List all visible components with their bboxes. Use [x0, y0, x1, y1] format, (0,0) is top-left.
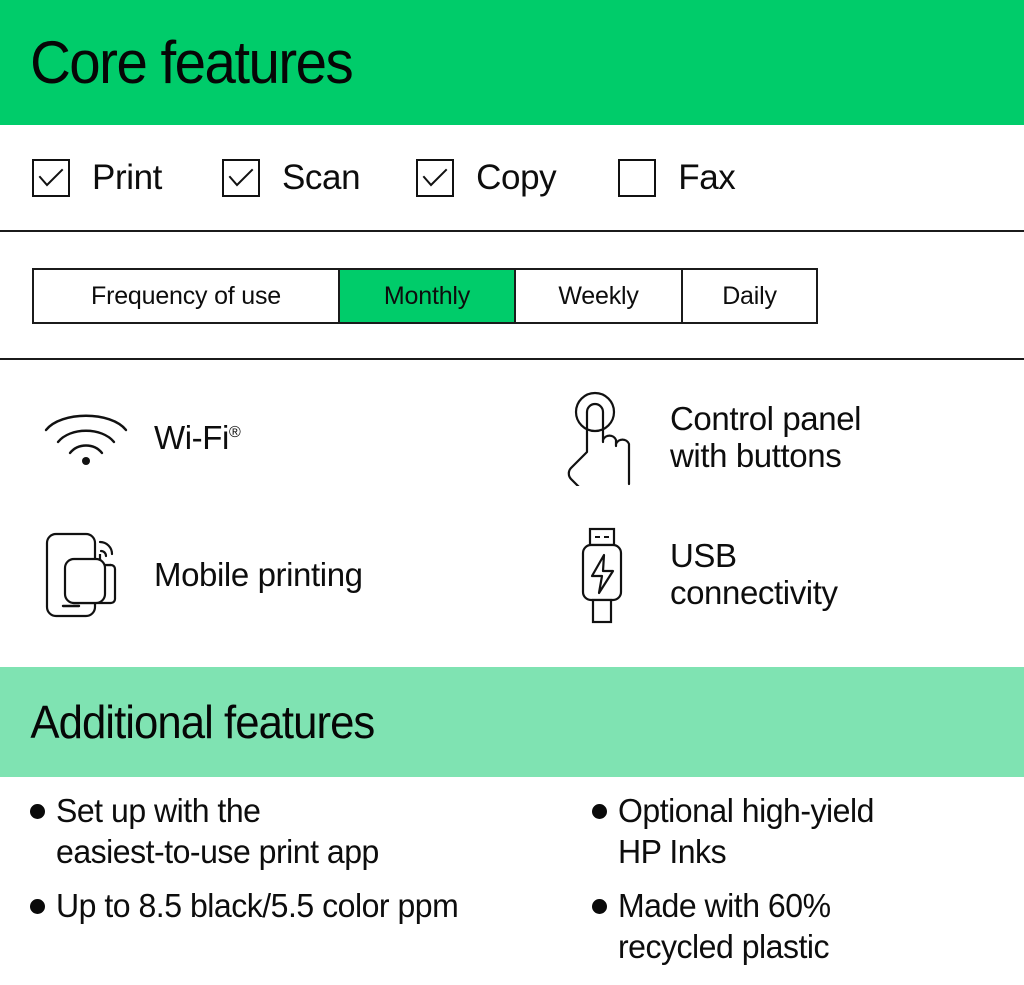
mobile-printing-icon	[40, 525, 132, 625]
capability-scan-label: Scan	[282, 160, 360, 195]
feature-wifi: Wi-Fi®	[40, 388, 241, 488]
core-capabilities-row: Print Scan Copy Fax	[0, 125, 1024, 230]
capability-print[interactable]: Print	[32, 159, 162, 197]
list-item: Optional high-yield HP Inks	[592, 790, 1012, 873]
core-features-title: Core features	[0, 33, 352, 93]
capability-fax-label: Fax	[678, 160, 735, 195]
additional-features-title: Additional features	[0, 699, 374, 745]
checkbox-checked-icon[interactable]	[416, 159, 454, 197]
capability-print-label: Print	[92, 160, 162, 195]
list-item-text: Optional high-yield HP Inks	[618, 790, 874, 873]
capability-copy[interactable]: Copy	[416, 159, 556, 197]
list-item: Up to 8.5 black/5.5 color ppm	[30, 885, 590, 926]
frequency-of-use-table: Frequency of use Monthly Weekly Daily	[32, 268, 818, 324]
feature-mobile-printing: Mobile printing	[40, 525, 363, 625]
additional-features-banner: Additional features	[0, 667, 1024, 777]
list-item: Made with 60% recycled plastic	[592, 885, 1012, 968]
list-item-text: Set up with the easiest-to-use print app	[56, 790, 379, 873]
capability-scan[interactable]: Scan	[222, 159, 360, 197]
bullet-dot-icon	[592, 899, 607, 914]
checkbox-unchecked-icon[interactable]	[618, 159, 656, 197]
divider-above-frequency	[0, 230, 1024, 232]
feature-mobile-printing-label: Mobile printing	[154, 557, 363, 594]
additional-features-lists: Set up with the easiest-to-use print app…	[0, 790, 1024, 985]
list-item: Set up with the easiest-to-use print app	[30, 790, 590, 873]
connectivity-feature-grid: Wi-Fi® Control panel with buttons	[0, 380, 1024, 660]
bullet-dot-icon	[30, 804, 45, 819]
feature-control-panel: Control panel with buttons	[556, 388, 861, 488]
bullet-dot-icon	[30, 899, 45, 914]
core-features-banner: Core features	[0, 0, 1024, 125]
frequency-option-daily[interactable]: Daily	[681, 270, 816, 322]
capability-fax[interactable]: Fax	[618, 159, 735, 197]
list-item-text: Made with 60% recycled plastic	[618, 885, 831, 968]
wifi-icon	[40, 388, 132, 488]
usb-connector-icon	[556, 525, 648, 625]
printer-spec-sheet: Core features Print Scan	[0, 0, 1024, 985]
additional-features-left-column: Set up with the easiest-to-use print app…	[30, 790, 590, 938]
checkbox-checked-icon[interactable]	[222, 159, 260, 197]
additional-features-right-column: Optional high-yield HP Inks Made with 60…	[592, 790, 1012, 979]
frequency-row-label: Frequency of use	[34, 270, 338, 322]
divider-below-frequency	[0, 358, 1024, 360]
feature-control-panel-label: Control panel with buttons	[670, 401, 861, 475]
capability-copy-label: Copy	[476, 160, 556, 195]
frequency-option-monthly[interactable]: Monthly	[338, 270, 514, 322]
feature-wifi-label: Wi-Fi®	[154, 420, 241, 457]
checkbox-checked-icon[interactable]	[32, 159, 70, 197]
touch-hand-icon	[556, 388, 648, 488]
list-item-text: Up to 8.5 black/5.5 color ppm	[56, 885, 458, 926]
registered-trademark-mark: ®	[229, 424, 241, 441]
feature-usb-connectivity-label: USB connectivity	[670, 538, 838, 612]
feature-usb-connectivity: USB connectivity	[556, 525, 838, 625]
frequency-option-weekly[interactable]: Weekly	[514, 270, 681, 322]
bullet-dot-icon	[592, 804, 607, 819]
